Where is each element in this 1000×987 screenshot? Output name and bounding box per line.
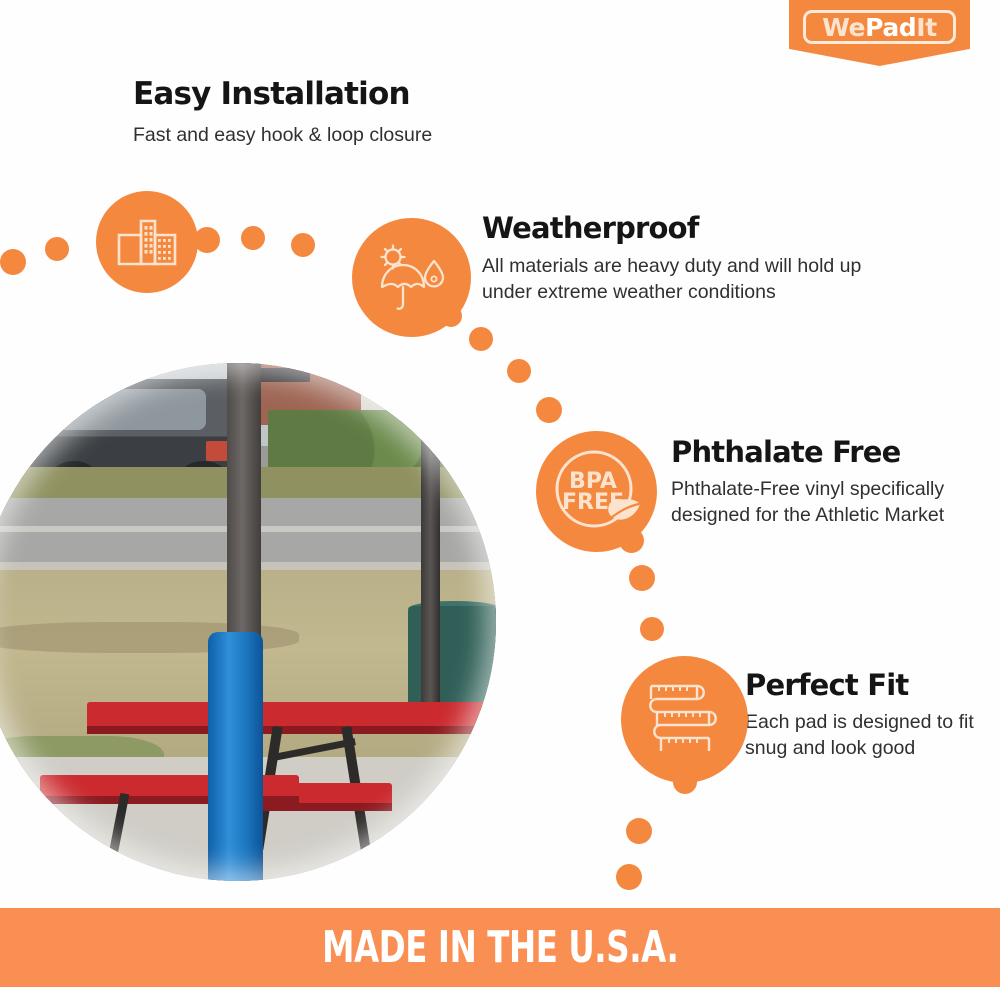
made-in-usa-banner: MADE IN THE U.S.A. <box>0 908 1000 987</box>
feature-description-weatherproof: All materials are heavy duty and will ho… <box>482 254 902 305</box>
feature-description-easy-installation: Fast and easy hook & loop closure <box>133 123 563 148</box>
logo-border: WePadIt <box>803 10 956 44</box>
feature-title-phthalate-free: Phthalate Free <box>671 437 981 467</box>
measuring-tape-icon <box>621 656 748 783</box>
feature-block-phthalate-free: Phthalate Free Phthalate-Free vinyl spec… <box>671 437 981 528</box>
logo-text-we: We <box>822 13 865 42</box>
made-in-usa-text: MADE IN THE U.S.A. <box>322 922 678 973</box>
feature-title-perfect-fit: Perfect Fit <box>745 670 985 700</box>
logo-text-pad: Pad <box>865 13 916 42</box>
connector-dot <box>616 864 642 890</box>
connector-dot <box>469 327 493 351</box>
feature-description-perfect-fit: Each pad is designed to fit snug and loo… <box>745 710 985 761</box>
feature-block-weatherproof: Weatherproof All materials are heavy dut… <box>482 213 902 305</box>
connector-dot <box>629 565 655 591</box>
sun-umbrella-raindrop-icon <box>352 218 471 337</box>
connector-dot <box>640 617 664 641</box>
building-installation-icon <box>96 191 198 293</box>
feature-block-easy-installation: Easy Installation Fast and easy hook & l… <box>133 78 563 148</box>
logo-wordmark: WePadIt <box>822 15 937 40</box>
feature-title-weatherproof: Weatherproof <box>482 213 902 243</box>
connector-dot <box>507 359 531 383</box>
feature-description-phthalate-free: Phthalate-Free vinyl specifically design… <box>671 477 981 528</box>
connector-dot <box>45 237 69 261</box>
product-photo <box>0 363 496 881</box>
connector-dot <box>0 249 26 275</box>
connector-dot <box>241 226 265 250</box>
connector-dot <box>626 818 652 844</box>
feature-title-easy-installation: Easy Installation <box>133 78 563 111</box>
connector-dot <box>291 233 315 257</box>
logo-text-it: It <box>916 13 936 42</box>
brand-logo[interactable]: WePadIt <box>789 0 970 66</box>
infographic-canvas: WePadIt Easy Installation Fast and easy … <box>0 0 1000 987</box>
feature-block-perfect-fit: Perfect Fit Each pad is designed to fit … <box>745 670 985 761</box>
bpa-free-leaf-icon: BPA FREE <box>536 431 657 552</box>
connector-dot <box>536 397 562 423</box>
